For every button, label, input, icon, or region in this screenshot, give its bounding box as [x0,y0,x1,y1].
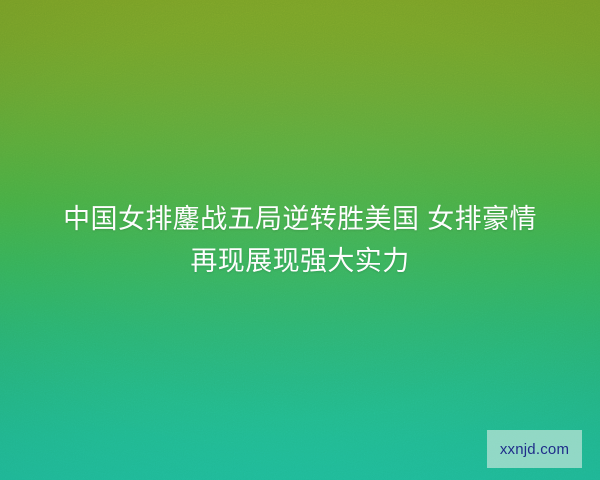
headline-title: 中国女排鏖战五局逆转胜美国 女排豪情 再现展现强大实力 [0,198,600,282]
watermark-badge: xxnjd.com [487,430,582,468]
headline-line-2: 再现展现强大实力 [0,240,600,282]
poster-image: 中国女排鏖战五局逆转胜美国 女排豪情 再现展现强大实力 xxnjd.com [0,0,600,480]
headline-line-1: 中国女排鏖战五局逆转胜美国 女排豪情 [0,198,600,240]
watermark-text: xxnjd.com [500,442,569,457]
